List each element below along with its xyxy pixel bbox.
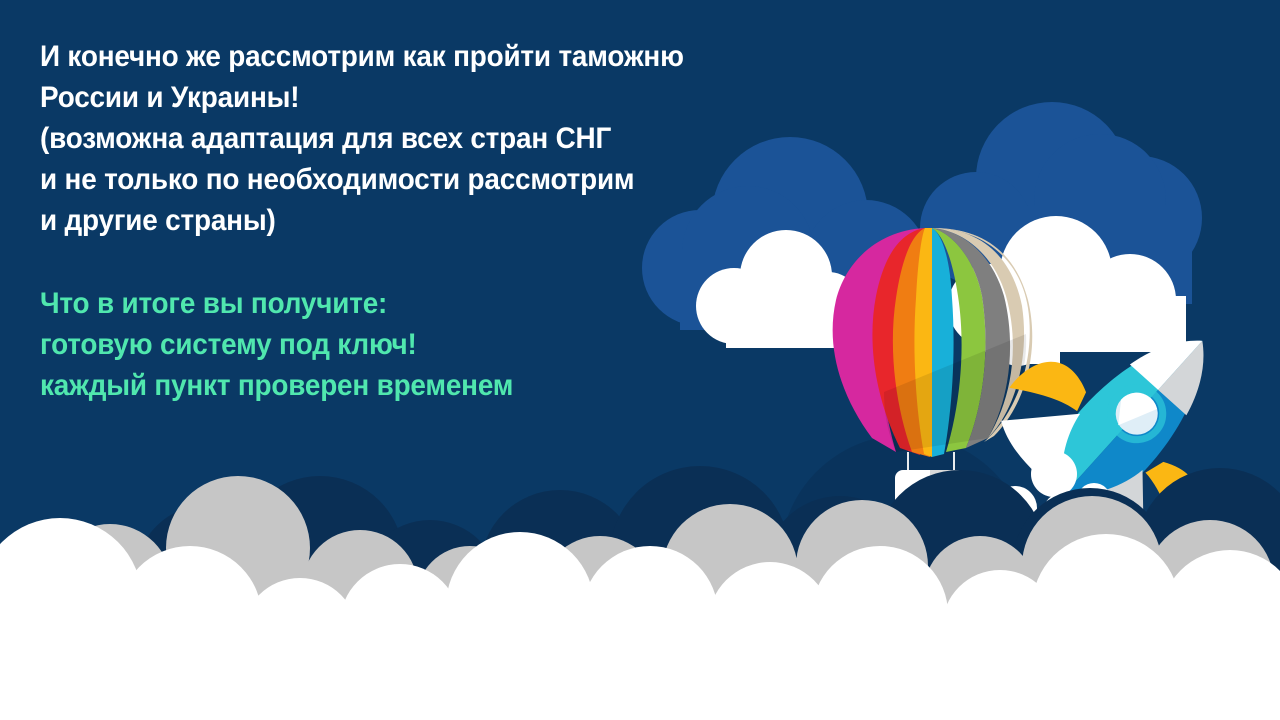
paragraph-two-line-2: готовую систему под ключ! (40, 324, 747, 365)
paragraph-spacer (40, 241, 800, 283)
text-block: И конечно же рассмотрим как пройти тамож… (40, 36, 800, 406)
paragraph-one-line-3: (возможна адаптация для всех стран СНГ (40, 118, 747, 159)
paragraph-two-line-3: каждый пункт проверен временем (40, 365, 747, 406)
paragraph-two-line-1: Что в итоге вы получите: (40, 283, 747, 324)
paragraph-one-line-2: России и Украины! (40, 77, 747, 118)
paragraph-one-line-5: и другие страны) (40, 200, 747, 241)
paragraph-one-line-4: и не только по необходимости рассмотрим (40, 159, 747, 200)
paragraph-one-line-1: И конечно же рассмотрим как пройти тамож… (40, 36, 747, 77)
cloudbank-white-layer (0, 518, 1280, 720)
slide-canvas: И конечно же рассмотрим как пройти тамож… (0, 0, 1280, 720)
